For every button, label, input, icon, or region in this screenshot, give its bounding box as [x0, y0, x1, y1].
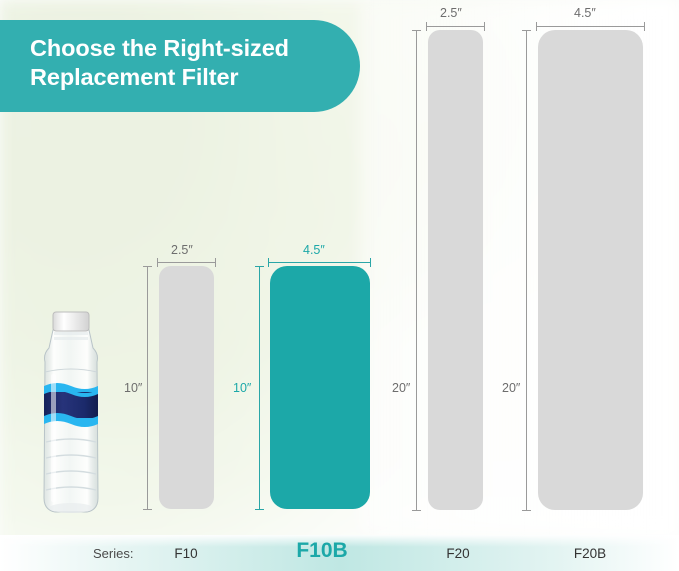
- dimension-line-height-f20b: [526, 30, 527, 511]
- infographic-canvas: Choose the Right-sized Replacement Filte…: [0, 0, 679, 571]
- water-bottle-scale-reference: [37, 310, 105, 516]
- series-item-f20[interactable]: F20: [428, 546, 488, 561]
- dimension-label-width-f10b: 4.5″: [303, 243, 325, 257]
- dimension-line-height-f10b: [259, 266, 260, 510]
- dimension-label-height-f20b: 20″: [502, 381, 520, 395]
- page-title: Choose the Right-sized Replacement Filte…: [30, 34, 330, 91]
- dimension-line-width-f10: [157, 262, 216, 263]
- dimension-label-height-f10: 10″: [124, 381, 142, 395]
- series-label: Series:: [93, 546, 133, 561]
- series-item-f10[interactable]: F10: [156, 546, 216, 561]
- dimension-label-width-f10: 2.5″: [171, 243, 193, 257]
- dimension-line-height-f10: [147, 266, 148, 510]
- series-item-f20b[interactable]: F20B: [560, 546, 620, 561]
- dimension-line-width-f20b: [536, 26, 645, 27]
- dimension-line-width-f20: [426, 26, 485, 27]
- filter-bar-f20b[interactable]: [538, 30, 643, 510]
- dimension-line-width-f10b: [268, 262, 371, 263]
- dimension-label-width-f20: 2.5″: [440, 6, 462, 20]
- filter-bar-f10b[interactable]: [270, 266, 370, 509]
- filter-bar-f20[interactable]: [428, 30, 483, 510]
- header-banner: Choose the Right-sized Replacement Filte…: [0, 20, 360, 112]
- series-band: Series: F10 F10B F20 F20B: [0, 535, 679, 571]
- dimension-label-height-f10b: 10″: [233, 381, 251, 395]
- filter-bar-f10[interactable]: [159, 266, 214, 509]
- dimension-label-height-f20: 20″: [392, 381, 410, 395]
- series-item-f10b[interactable]: F10B: [272, 539, 372, 563]
- dimension-line-height-f20: [416, 30, 417, 511]
- dimension-label-width-f20b: 4.5″: [574, 6, 596, 20]
